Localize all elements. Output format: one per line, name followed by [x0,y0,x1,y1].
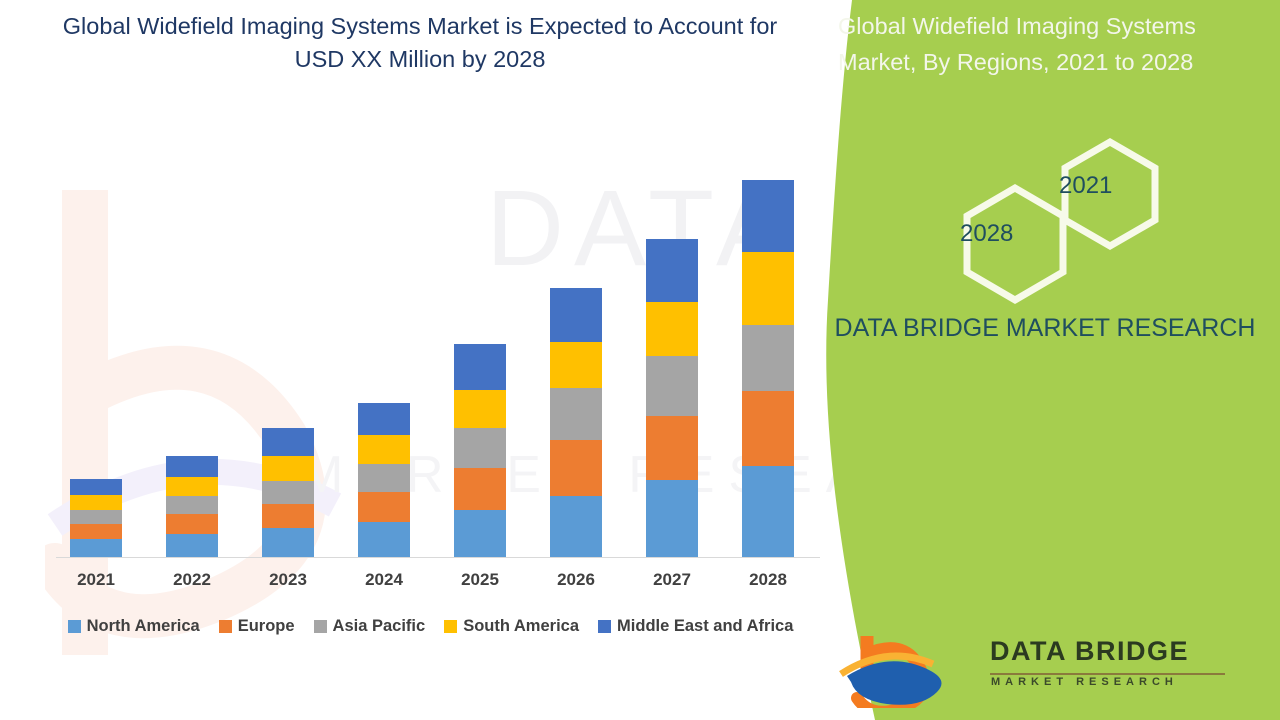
hex-badge-label-2028: 2028 [960,220,1013,248]
bar-segment-2025-north-america [454,510,506,557]
bar-group [0,0,860,558]
x-axis-label-2024: 2024 [339,570,429,590]
legend-swatch-icon [68,620,81,633]
legend-swatch-icon [598,620,611,633]
plot-area: 20212022202320242025202620272028 [0,0,860,600]
x-axis-label-2027: 2027 [627,570,717,590]
bar-segment-2028-europe [742,391,794,466]
bar-segment-2024-middle-east-and-africa [358,403,410,434]
x-axis-label-2021: 2021 [51,570,141,590]
hex-badge-label-2021: 2021 [1059,172,1112,200]
bar-segment-2023-europe [262,504,314,528]
bar-segment-2025-europe [454,468,506,510]
bar-segment-2028-north-america [742,466,794,557]
bar-segment-2027-north-america [646,480,698,557]
bar-segment-2027-south-america [646,302,698,356]
legend-item-south-america[interactable]: South America [444,617,579,636]
company-logo: DATA BRIDGE MARKET RESEARCH [835,628,1255,708]
bar-segment-2024-asia-pacific [358,464,410,492]
bar-segment-2024-north-america [358,522,410,557]
bar-segment-2021-middle-east-and-africa [70,479,122,495]
bar-segment-2021-south-america [70,495,122,510]
x-axis-line [56,557,820,558]
legend-swatch-icon [314,620,327,633]
legend-label: Middle East and Africa [617,617,793,636]
logo-divider [990,673,1225,675]
panel-title: Global Widefield Imaging Systems Market,… [838,8,1258,80]
bar-segment-2028-south-america [742,252,794,325]
bar-segment-2022-south-america [166,477,218,496]
bar-2027 [646,239,698,557]
bar-segment-2023-middle-east-and-africa [262,428,314,456]
legend-label: Asia Pacific [333,617,426,636]
bar-segment-2025-south-america [454,390,506,428]
legend-item-north-america[interactable]: North America [68,617,200,636]
logo-name: DATA BRIDGE [990,636,1189,667]
bar-2022 [166,456,218,557]
bar-segment-2023-north-america [262,528,314,557]
bar-segment-2027-europe [646,416,698,481]
chart-panel: Global Widefield Imaging Systems Market … [0,0,860,720]
legend-swatch-icon [444,620,457,633]
databridge-mark-icon [835,628,985,708]
brand-panel-content: Global Widefield Imaging Systems Market,… [810,0,1280,720]
bar-segment-2023-south-america [262,456,314,480]
bar-segment-2022-north-america [166,534,218,557]
bar-2024 [358,403,410,557]
bar-segment-2024-south-america [358,435,410,464]
brand-name-text: DATA BRIDGE MARKET RESEARCH [830,310,1260,346]
bar-segment-2026-middle-east-and-africa [550,288,602,342]
legend-item-europe[interactable]: Europe [219,617,295,636]
bar-segment-2026-south-america [550,342,602,387]
x-axis-label-2022: 2022 [147,570,237,590]
hexagon-badges [810,130,1280,310]
bar-segment-2023-asia-pacific [262,481,314,504]
bar-segment-2021-europe [70,524,122,539]
bar-2021 [70,479,122,558]
x-axis-label-2023: 2023 [243,570,333,590]
bar-2025 [454,344,506,557]
bar-segment-2026-europe [550,440,602,496]
bar-2028 [742,180,794,557]
x-axis-label-2026: 2026 [531,570,621,590]
bar-segment-2024-europe [358,492,410,522]
legend-label: Europe [238,617,295,636]
bar-segment-2025-middle-east-and-africa [454,344,506,390]
x-axis-label-2025: 2025 [435,570,525,590]
brand-panel: Global Widefield Imaging Systems Market,… [810,0,1280,720]
bar-segment-2022-europe [166,514,218,533]
legend-swatch-icon [219,620,232,633]
bar-segment-2028-asia-pacific [742,325,794,391]
bar-segment-2028-middle-east-and-africa [742,180,794,252]
chart-legend: North AmericaEuropeAsia PacificSouth Ame… [45,617,835,636]
bar-segment-2022-middle-east-and-africa [166,456,218,477]
bar-segment-2027-middle-east-and-africa [646,239,698,302]
bar-segment-2025-asia-pacific [454,428,506,468]
infographic-canvas: DATA BRIDGE MARKET RESEARCH Global Widef… [0,0,1280,720]
logo-tagline: MARKET RESEARCH [991,676,1178,688]
bar-2023 [262,428,314,557]
bar-2026 [550,288,602,557]
legend-item-asia-pacific[interactable]: Asia Pacific [314,617,426,636]
bar-segment-2021-north-america [70,539,122,557]
bar-segment-2026-north-america [550,496,602,557]
bar-segment-2027-asia-pacific [646,356,698,415]
legend-item-middle-east-and-africa[interactable]: Middle East and Africa [598,617,793,636]
bar-segment-2022-asia-pacific [166,496,218,514]
x-axis-label-2028: 2028 [723,570,813,590]
legend-label: South America [463,617,579,636]
bar-segment-2026-asia-pacific [550,388,602,440]
bar-segment-2021-asia-pacific [70,510,122,524]
legend-label: North America [87,617,200,636]
